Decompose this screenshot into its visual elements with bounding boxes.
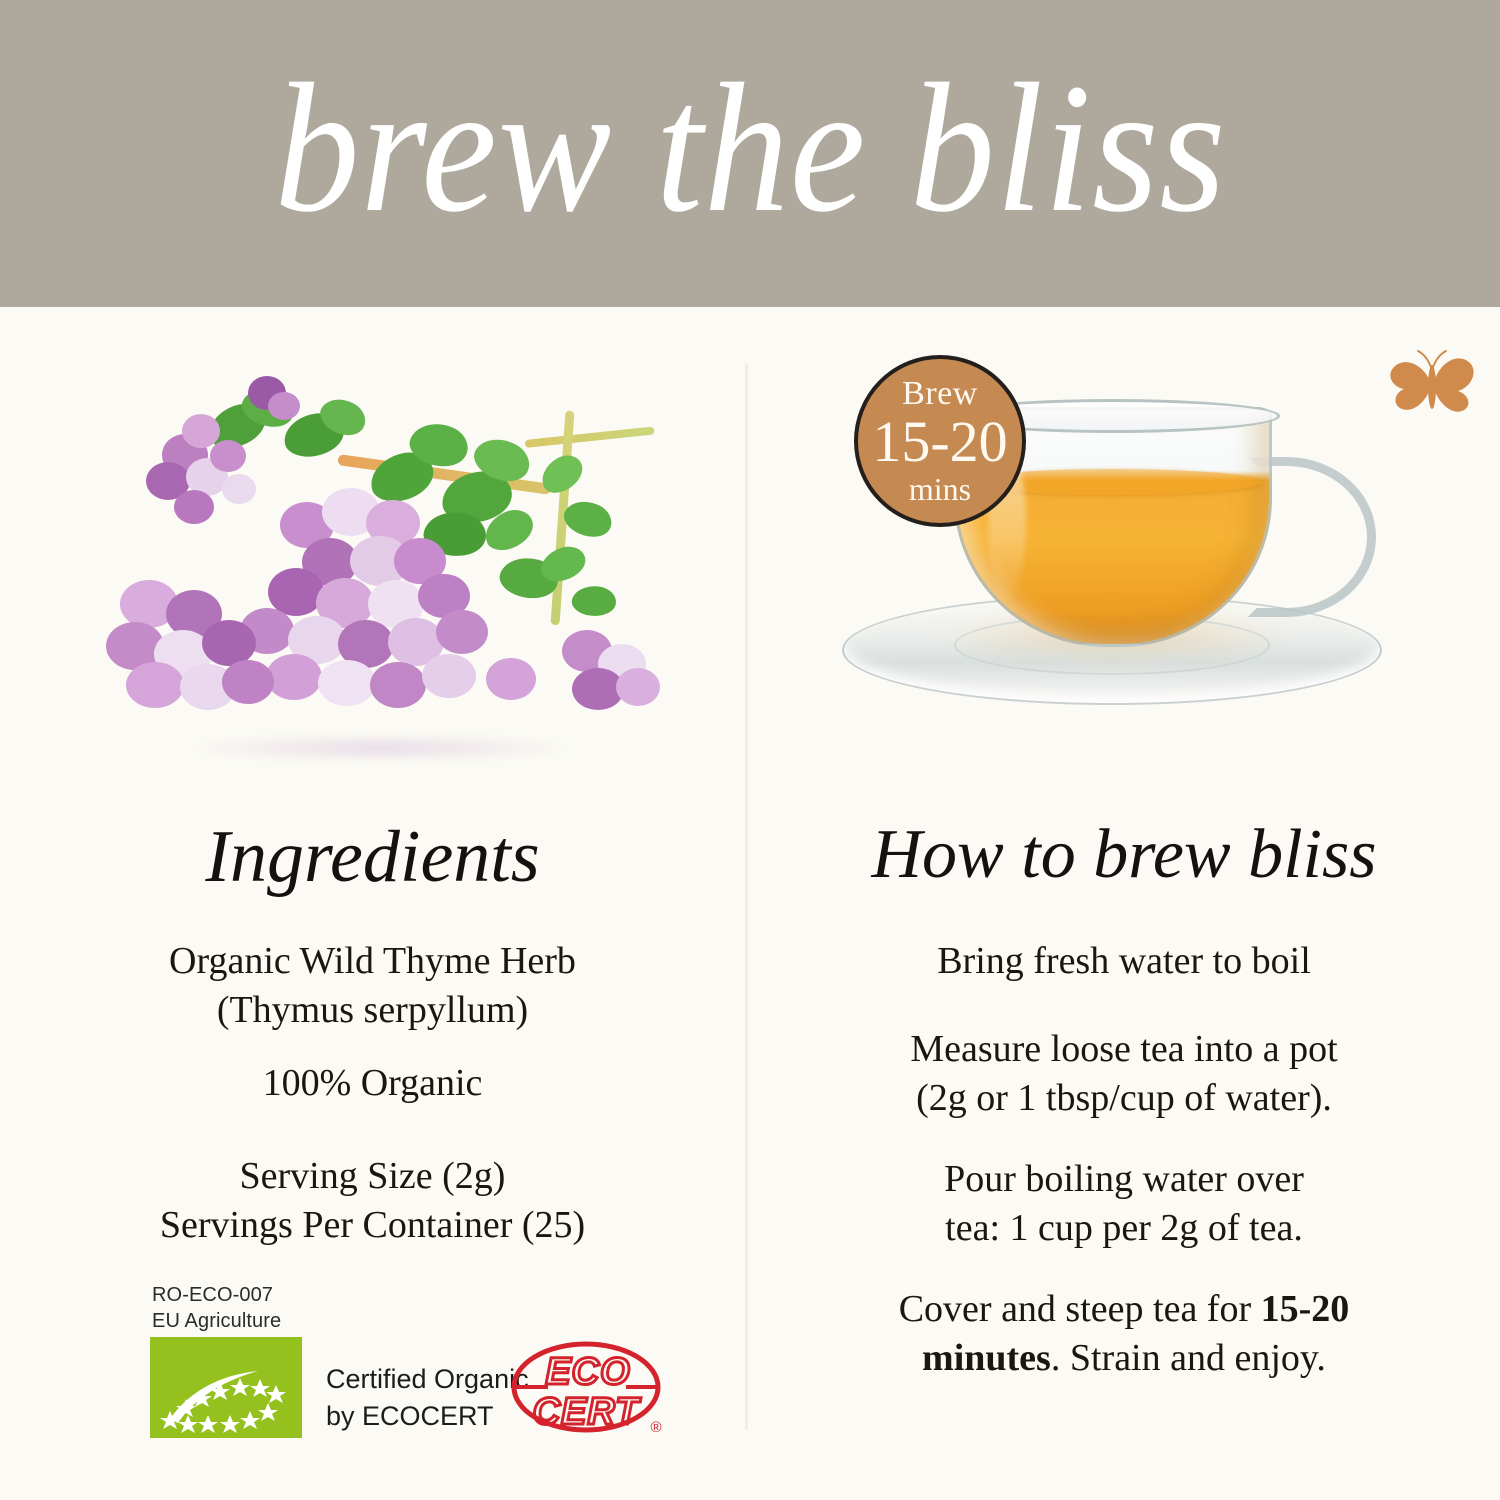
svg-text:®: ® xyxy=(650,1419,661,1436)
brew-badge-label: Brew xyxy=(902,376,978,412)
ingredients-heading: Ingredients xyxy=(0,815,745,900)
brew-step-text: Cover and steep tea for xyxy=(899,1288,1261,1330)
thyme-floret xyxy=(222,660,274,704)
certification-block: RO-ECO-007 EU Agriculture xyxy=(150,1282,670,1442)
ingredients-column: Ingredients Organic Wild Thyme Herb (Thy… xyxy=(0,307,745,1500)
brew-step-emphasis: 15-20 xyxy=(1261,1288,1350,1330)
wild-thyme-image xyxy=(70,362,680,772)
certified-organic-text: Certified Organic by ECOCERT xyxy=(326,1361,529,1436)
page-title: brew the bliss xyxy=(274,56,1226,241)
ingredient-line: (Thymus serpyllum) xyxy=(0,986,745,1035)
content-area: Ingredients Organic Wild Thyme Herb (Thy… xyxy=(0,307,1500,1500)
eu-code-line: RO-ECO-007 xyxy=(152,1282,281,1308)
ingredient-line: Organic Wild Thyme Herb xyxy=(0,937,745,986)
thyme-floret xyxy=(422,654,476,698)
brew-step: Measure loose tea into a pot (2g or 1 tb… xyxy=(748,1025,1500,1124)
brew-step: Bring fresh water to boil xyxy=(748,937,1500,986)
svg-text:ECO: ECO xyxy=(545,1351,630,1393)
eu-organic-leaf-icon xyxy=(150,1337,302,1438)
brewing-heading: How to brew bliss xyxy=(748,815,1500,895)
brewing-column: Brew 15-20 mins xyxy=(748,307,1500,1500)
brew-step-line: Cover and steep tea for 15-20 xyxy=(748,1285,1500,1334)
thyme-floret xyxy=(174,490,214,524)
brew-step-line: Bring fresh water to boil xyxy=(748,937,1500,986)
thyme-floret xyxy=(210,440,246,472)
thyme-shadow xyxy=(180,734,580,762)
certified-line: by ECOCERT xyxy=(326,1398,529,1435)
thyme-floret xyxy=(616,668,660,706)
brew-step-text: . Strain and enjoy. xyxy=(1051,1337,1326,1379)
ingredient-item: Serving Size (2g) Servings Per Container… xyxy=(0,1152,745,1251)
ingredient-item: Organic Wild Thyme Herb (Thymus serpyllu… xyxy=(0,937,745,1036)
brew-step: Pour boiling water over tea: 1 cup per 2… xyxy=(748,1155,1500,1254)
header-banner: brew the bliss xyxy=(0,0,1500,307)
svg-text:CERT: CERT xyxy=(533,1391,642,1433)
brew-step-line: (2g or 1 tbsp/cup of water). xyxy=(748,1074,1500,1123)
thyme-floret xyxy=(222,474,256,504)
thyme-leaves xyxy=(570,583,618,619)
brew-step-line: tea: 1 cup per 2g of tea. xyxy=(748,1204,1500,1253)
thyme-floret xyxy=(318,660,376,706)
ingredient-item: 100% Organic xyxy=(0,1059,745,1108)
thyme-floret xyxy=(126,662,184,708)
ecocert-logo-icon: ECO CERT ® xyxy=(508,1340,668,1440)
thyme-floret xyxy=(486,658,536,700)
thyme-floret xyxy=(268,392,300,420)
butterfly-icon xyxy=(1384,347,1480,425)
ingredient-line: Serving Size (2g) xyxy=(0,1152,745,1201)
brew-badge-unit: mins xyxy=(909,473,971,507)
ingredient-line: Servings Per Container (25) xyxy=(0,1201,745,1250)
thyme-stem xyxy=(525,426,655,448)
thyme-floret xyxy=(266,654,322,700)
brew-step-emphasis: minutes xyxy=(922,1337,1051,1379)
brew-step-line: Measure loose tea into a pot xyxy=(748,1025,1500,1074)
thyme-floret xyxy=(370,662,426,708)
brew-badge-minutes: 15-20 xyxy=(872,413,1007,471)
thyme-floret xyxy=(436,610,488,654)
certified-line: Certified Organic xyxy=(326,1361,529,1398)
ingredient-line: 100% Organic xyxy=(0,1059,745,1108)
eu-code-line: EU Agriculture xyxy=(152,1308,281,1334)
thyme-floret xyxy=(182,414,220,448)
teacup-image: Brew 15-20 mins xyxy=(836,347,1416,767)
product-info-panel: brew the bliss xyxy=(0,0,1500,1500)
brew-time-badge: Brew 15-20 mins xyxy=(854,355,1026,527)
brew-step-line: minutes. Strain and enjoy. xyxy=(748,1334,1500,1383)
eu-certification-code: RO-ECO-007 EU Agriculture xyxy=(152,1282,281,1335)
brew-step-line: Pour boiling water over xyxy=(748,1155,1500,1204)
brew-step: Cover and steep tea for 15-20 minutes. S… xyxy=(748,1285,1500,1384)
